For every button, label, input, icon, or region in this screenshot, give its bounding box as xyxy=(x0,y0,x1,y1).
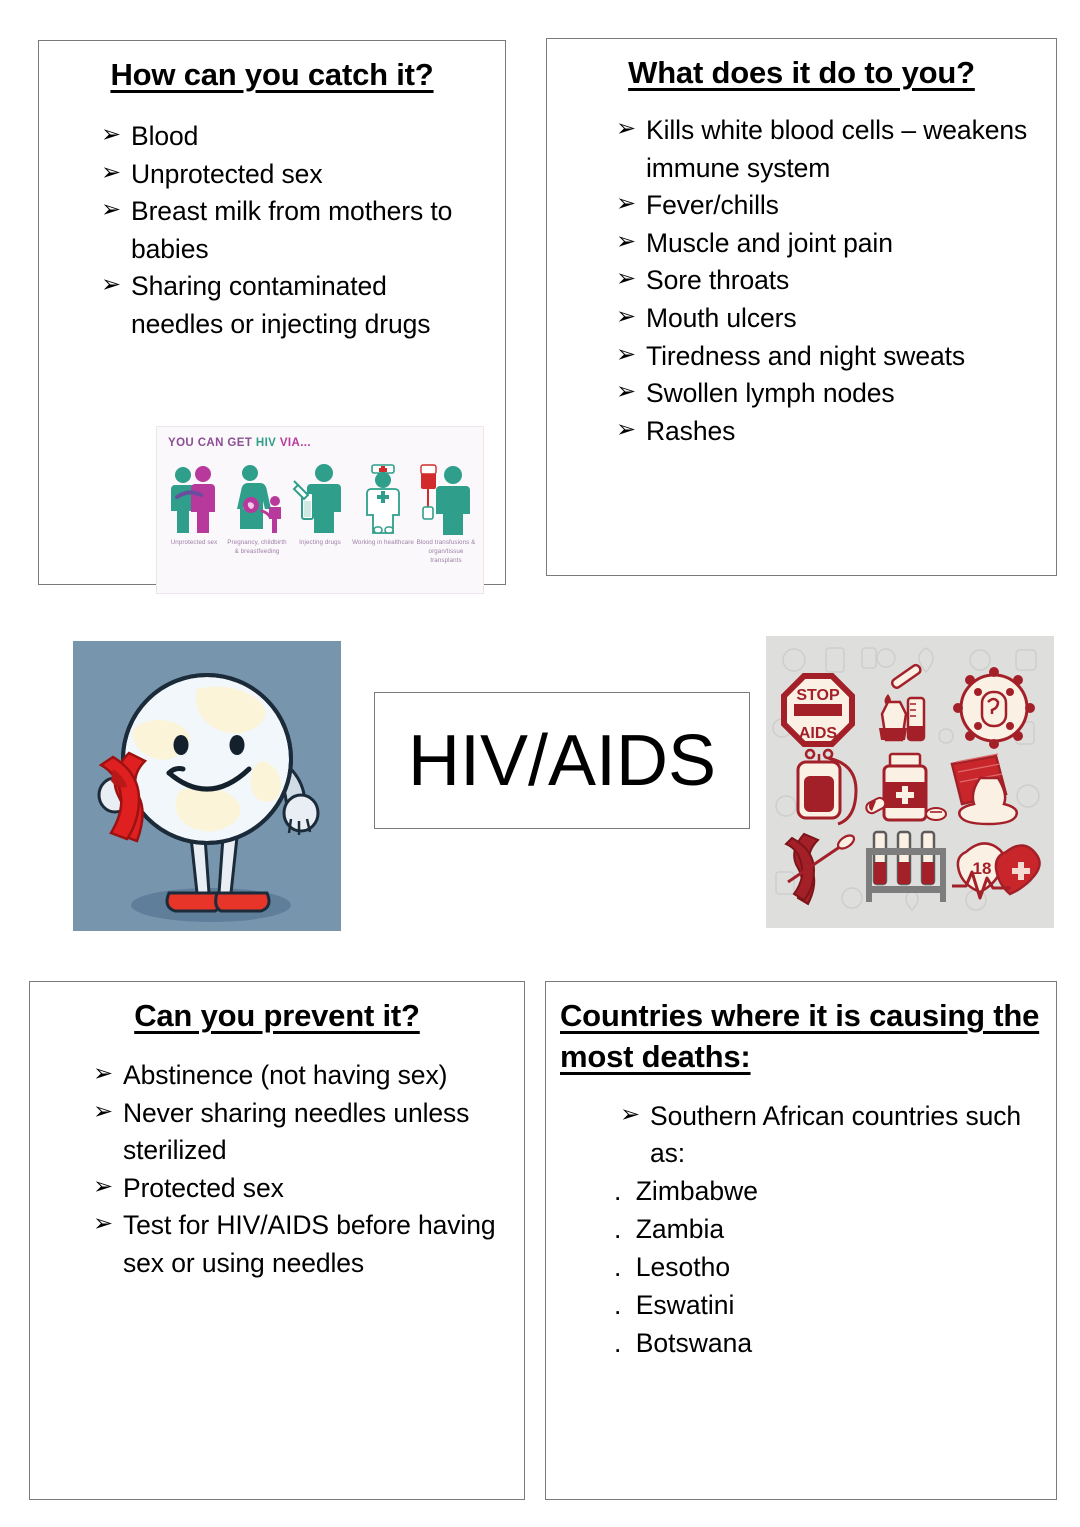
dot-bullet-icon: . xyxy=(614,1214,621,1244)
arrow-bullet-icon: ➢ xyxy=(101,155,121,191)
list-item: ➢ Unprotected sex xyxy=(101,156,481,194)
infographic-heading-part-3: VIA... xyxy=(280,437,311,449)
list-item-label: Eswatini xyxy=(636,1290,735,1320)
globe-character-image xyxy=(73,641,341,931)
panel-how-can-you-catch-it: How can you catch it? ➢ Blood ➢ Unprotec… xyxy=(38,40,506,585)
svg-text:AIDS: AIDS xyxy=(799,725,838,742)
list-item-label: Lesotho xyxy=(636,1252,730,1282)
list-item-label: Test for HIV/AIDS before having sex or u… xyxy=(123,1210,496,1278)
arrow-bullet-icon: ➢ xyxy=(93,1169,113,1205)
svg-text:STOP: STOP xyxy=(796,687,840,704)
list-item: ➢ Kills white blood cells – weakens immu… xyxy=(616,112,1040,187)
list-item: ➢ Mouth ulcers xyxy=(616,300,1040,338)
page-title: HIV/AIDS xyxy=(408,725,716,797)
svg-text:18: 18 xyxy=(973,859,992,878)
panel-what-does-it-do-to-you: What does it do to you? ➢ Kills white bl… xyxy=(546,38,1057,576)
list-item: ➢ Test for HIV/AIDS before having sex or… xyxy=(93,1207,506,1282)
arrow-bullet-icon: ➢ xyxy=(616,299,636,335)
center-title-box: HIV/AIDS xyxy=(374,692,750,829)
infographic-column-unprotected-sex: Unprotected sex xyxy=(163,461,225,548)
infographic-heading-part-1: YOU CAN GET xyxy=(168,437,256,449)
list-item: ➢ Never sharing needles unless sterilize… xyxy=(93,1095,506,1170)
infographic-column-healthcare: Working in healthcare xyxy=(352,461,414,548)
infographic-heading-part-2: HIV xyxy=(256,437,280,449)
syringe-person-icon xyxy=(289,461,351,537)
bullet-list-effects: ➢ Kills white blood cells – weakens immu… xyxy=(616,112,1040,451)
bullet-list-catch: ➢ Blood ➢ Unprotected sex ➢ Breast milk … xyxy=(101,118,481,344)
list-item: ➢ Swollen lymph nodes xyxy=(616,375,1040,413)
country-sub-list: . Zimbabwe . Zambia . Lesotho . Eswatini… xyxy=(614,1173,1044,1362)
arrow-bullet-icon: ➢ xyxy=(93,1056,113,1092)
panel-title-catch: How can you catch it? xyxy=(53,55,491,96)
list-item: . Zambia xyxy=(614,1211,1044,1249)
medical-icons-collage-image: STOP AIDS xyxy=(766,636,1054,928)
list-item-label: Unprotected sex xyxy=(131,159,322,189)
nurse-icon xyxy=(352,461,414,537)
list-item-label: Protected sex xyxy=(123,1173,284,1203)
couple-icon xyxy=(163,461,225,537)
panel-title-effects: What does it do to you? xyxy=(563,53,1040,94)
virus-cell-icon xyxy=(953,667,1035,749)
list-item: . Eswatini xyxy=(614,1287,1044,1325)
arrow-bullet-icon: ➢ xyxy=(616,374,636,410)
list-item-label: Rashes xyxy=(646,416,735,446)
infographic-column-pregnancy: Pregnancy, childbirth & breastfeeding xyxy=(226,461,288,557)
infographic-caption: Unprotected sex xyxy=(163,539,225,548)
infographic-column-injecting-drugs: Injecting drugs xyxy=(289,461,351,548)
list-item: ➢ Fever/chills xyxy=(616,187,1040,225)
list-item: . Lesotho xyxy=(614,1249,1044,1287)
list-item-label: Tiredness and night sweats xyxy=(646,341,965,371)
list-item: ➢ Southern African countries such as: xyxy=(620,1098,1044,1173)
infographic-caption: Working in healthcare xyxy=(352,539,414,548)
arrow-bullet-icon: ➢ xyxy=(101,117,121,153)
infographic-caption: Injecting drugs xyxy=(289,539,351,548)
list-item: ➢ Breast milk from mothers to babies xyxy=(101,193,481,268)
arrow-bullet-icon: ➢ xyxy=(616,412,636,448)
dot-bullet-icon: . xyxy=(614,1176,621,1206)
list-item: ➢ Sharing contaminated needles or inject… xyxy=(101,268,481,343)
bullet-list-countries: ➢ Southern African countries such as: xyxy=(620,1098,1044,1173)
list-item-label: Sharing contaminated needles or injectin… xyxy=(131,271,430,339)
list-item-label: Swollen lymph nodes xyxy=(646,378,895,408)
hiv-transmission-infographic: YOU CAN GET HIV VIA... Unprotected sex xyxy=(156,426,484,594)
arrow-bullet-icon: ➢ xyxy=(620,1097,640,1133)
list-item: ➢ Protected sex xyxy=(93,1170,506,1208)
infographic-heading: YOU CAN GET HIV VIA... xyxy=(168,437,311,449)
test-tube-rack-icon xyxy=(866,832,946,902)
list-item: ➢ Blood xyxy=(101,118,481,156)
list-item-label: Breast milk from mothers to babies xyxy=(131,196,452,264)
arrow-bullet-icon: ➢ xyxy=(93,1206,113,1242)
poster-page: How can you catch it? ➢ Blood ➢ Unprotec… xyxy=(0,0,1080,1527)
arrow-bullet-icon: ➢ xyxy=(101,267,121,303)
list-item: ➢ Sore throats xyxy=(616,262,1040,300)
dot-bullet-icon: . xyxy=(614,1290,621,1320)
panel-can-you-prevent-it: Can you prevent it? ➢ Abstinence (not ha… xyxy=(29,981,525,1500)
arrow-bullet-icon: ➢ xyxy=(616,111,636,147)
list-item-label: Sore throats xyxy=(646,265,789,295)
arrow-bullet-icon: ➢ xyxy=(616,337,636,373)
dot-bullet-icon: . xyxy=(614,1328,621,1358)
stop-aids-sign-icon: STOP AIDS xyxy=(784,676,852,744)
list-item: ➢ Tiredness and night sweats xyxy=(616,338,1040,376)
list-item: ➢ Abstinence (not having sex) xyxy=(93,1057,506,1095)
panel-title-countries: Countries where it is causing the most d… xyxy=(560,996,1044,1078)
list-item-label: Kills white blood cells – weakens immune… xyxy=(646,115,1027,183)
list-item: . Botswana xyxy=(614,1325,1044,1363)
list-item-label: Mouth ulcers xyxy=(646,303,797,333)
arrow-bullet-icon: ➢ xyxy=(616,224,636,260)
list-item-label: Botswana xyxy=(636,1328,752,1358)
list-item-label: Fever/chills xyxy=(646,190,779,220)
list-item-label: Muscle and joint pain xyxy=(646,228,893,258)
infographic-caption: Blood transfusions & organ/tissue transp… xyxy=(415,539,477,566)
list-item-label: Zambia xyxy=(636,1214,724,1244)
infographic-caption: Pregnancy, childbirth & breastfeeding xyxy=(226,539,288,557)
list-item-label: Blood xyxy=(131,121,198,151)
arrow-bullet-icon: ➢ xyxy=(616,261,636,297)
list-item-label: Southern African countries such as: xyxy=(650,1101,1021,1169)
arrow-bullet-icon: ➢ xyxy=(93,1094,113,1130)
list-item-label: Abstinence (not having sex) xyxy=(123,1060,447,1090)
list-item: ➢ Rashes xyxy=(616,413,1040,451)
list-item: . Zimbabwe xyxy=(614,1173,1044,1211)
dot-bullet-icon: . xyxy=(614,1252,621,1282)
panel-title-prevent: Can you prevent it? xyxy=(44,996,510,1037)
blood-transfusion-icon xyxy=(415,461,477,537)
bullet-list-prevent: ➢ Abstinence (not having sex) ➢ Never sh… xyxy=(93,1057,506,1283)
panel-countries-most-deaths: Countries where it is causing the most d… xyxy=(545,981,1057,1500)
list-item-label: Never sharing needles unless sterilized xyxy=(123,1098,469,1166)
list-item: ➢ Muscle and joint pain xyxy=(616,225,1040,263)
arrow-bullet-icon: ➢ xyxy=(101,192,121,228)
arrow-bullet-icon: ➢ xyxy=(616,186,636,222)
pregnant-mother-icon xyxy=(226,461,288,537)
list-item-label: Zimbabwe xyxy=(636,1176,758,1206)
infographic-column-blood-transfusions: Blood transfusions & organ/tissue transp… xyxy=(415,461,477,566)
